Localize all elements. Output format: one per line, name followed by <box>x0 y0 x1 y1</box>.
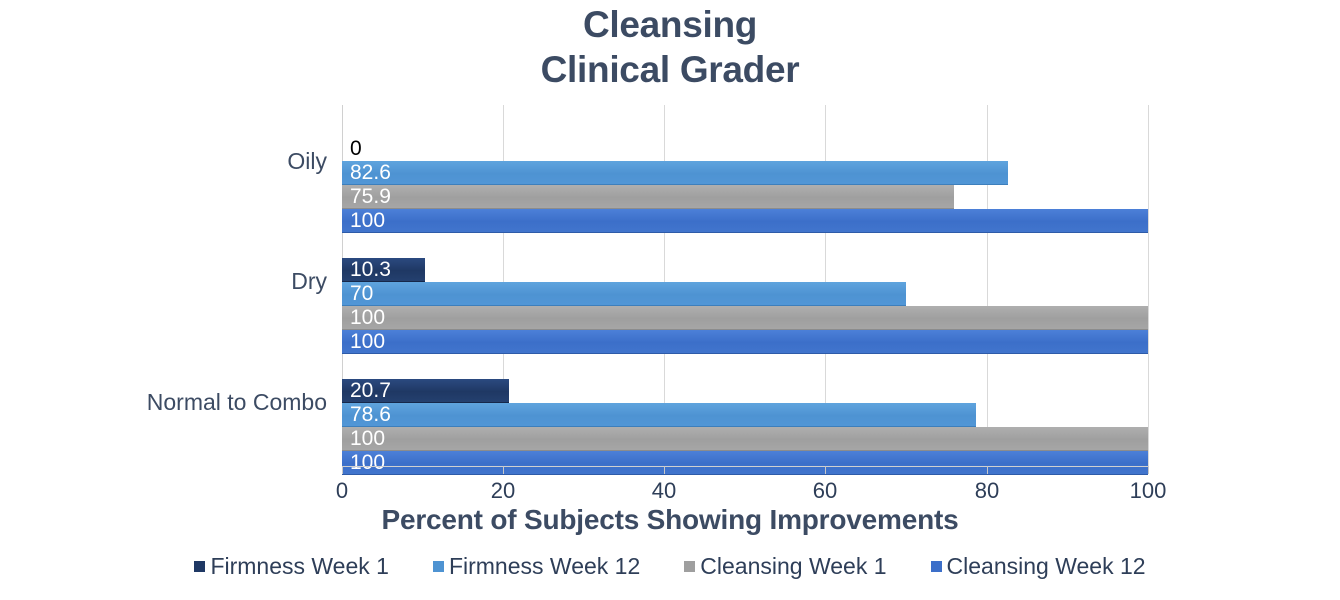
category-label-dry: Dry <box>291 267 327 295</box>
bar-row: 100 <box>342 451 1148 475</box>
bar-value-label: 82.6 <box>350 161 391 185</box>
bar-group-dry: 10.3 70 100 100 <box>342 258 1148 354</box>
legend-swatch-icon <box>684 561 695 572</box>
tick-label-40: 40 <box>652 478 676 504</box>
chart-title-line-2: Clinical Grader <box>0 47 1340 92</box>
bar-row: 100 <box>342 209 1148 233</box>
legend-item-cleansing-week-12[interactable]: Cleansing Week 12 <box>931 552 1146 580</box>
tick-mark-40 <box>664 466 665 474</box>
legend-swatch-icon <box>931 561 942 572</box>
bar-firmness-week-12-oily[interactable] <box>342 161 1008 185</box>
tick-mark-0 <box>342 466 343 474</box>
chart-legend: Firmness Week 1 Firmness Week 12 Cleansi… <box>0 552 1340 580</box>
bar-value-label: 70 <box>350 282 373 306</box>
tick-label-20: 20 <box>491 478 515 504</box>
bar-value-label: 78.6 <box>350 403 391 427</box>
bar-value-label: 100 <box>350 427 385 451</box>
bar-group-oily: 0 82.6 75.9 100 <box>342 137 1148 233</box>
bar-value-label: 10.3 <box>350 258 391 282</box>
bar-row: 20.7 <box>342 379 1148 403</box>
tick-label-100: 100 <box>1130 478 1167 504</box>
bar-cleansing-week-12-oily[interactable] <box>342 209 1148 233</box>
legend-item-firmness-week-12[interactable]: Firmness Week 12 <box>433 552 640 580</box>
bar-row: 0 <box>342 137 1148 161</box>
bar-firmness-week-12-dry[interactable] <box>342 282 906 306</box>
bar-value-label: 100 <box>350 330 385 354</box>
bar-value-label: 100 <box>350 209 385 233</box>
bar-cleansing-week-1-dry[interactable] <box>342 306 1148 330</box>
tick-mark-80 <box>987 466 988 474</box>
bar-cleansing-week-1-normal-to-combo[interactable] <box>342 427 1148 451</box>
chart-title: Cleansing Clinical Grader <box>0 2 1340 92</box>
legend-label: Cleansing Week 1 <box>700 552 886 580</box>
tick-mark-100 <box>1148 466 1149 474</box>
legend-swatch-icon <box>194 561 205 572</box>
bar-row: 10.3 <box>342 258 1148 282</box>
bar-row: 78.6 <box>342 403 1148 427</box>
tick-mark-60 <box>825 466 826 474</box>
value-axis-title: Percent of Subjects Showing Improvements <box>0 503 1340 537</box>
bar-group-normal-to-combo: 20.7 78.6 100 100 <box>342 379 1148 475</box>
legend-label: Cleansing Week 12 <box>947 552 1146 580</box>
category-label-normal-to-combo: Normal to Combo <box>147 388 327 416</box>
tick-label-0: 0 <box>336 478 348 504</box>
legend-label: Firmness Week 12 <box>449 552 640 580</box>
bar-value-label: 20.7 <box>350 379 391 403</box>
gridline-100 <box>1148 105 1149 466</box>
legend-label: Firmness Week 1 <box>210 552 389 580</box>
legend-item-firmness-week-1[interactable]: Firmness Week 1 <box>194 552 389 580</box>
bar-row: 100 <box>342 330 1148 354</box>
bar-row: 100 <box>342 306 1148 330</box>
bar-row: 75.9 <box>342 185 1148 209</box>
bar-value-label: 0 <box>350 137 362 161</box>
bar-row: 82.6 <box>342 161 1148 185</box>
category-axis-line <box>342 466 1149 467</box>
tick-label-80: 80 <box>975 478 999 504</box>
bar-value-label: 100 <box>350 451 385 475</box>
chart-title-line-1: Cleansing <box>0 2 1340 47</box>
bar-value-label: 75.9 <box>350 185 391 209</box>
bar-firmness-week-12-normal-to-combo[interactable] <box>342 403 976 427</box>
chart-container: Cleansing Clinical Grader Oily Dry Norma… <box>0 0 1340 600</box>
category-axis-labels: Oily Dry Normal to Combo <box>0 105 327 466</box>
category-label-oily: Oily <box>287 147 327 175</box>
plot-area: 0 82.6 75.9 100 10.3 70 <box>342 105 1148 466</box>
bar-cleansing-week-1-oily[interactable] <box>342 185 954 209</box>
bar-row: 70 <box>342 282 1148 306</box>
bar-row: 100 <box>342 427 1148 451</box>
legend-item-cleansing-week-1[interactable]: Cleansing Week 1 <box>684 552 886 580</box>
bar-cleansing-week-12-dry[interactable] <box>342 330 1148 354</box>
legend-swatch-icon <box>433 561 444 572</box>
tick-mark-20 <box>503 466 504 474</box>
tick-label-60: 60 <box>813 478 837 504</box>
bar-cleansing-week-12-normal-to-combo[interactable] <box>342 451 1148 475</box>
bar-value-label: 100 <box>350 306 385 330</box>
